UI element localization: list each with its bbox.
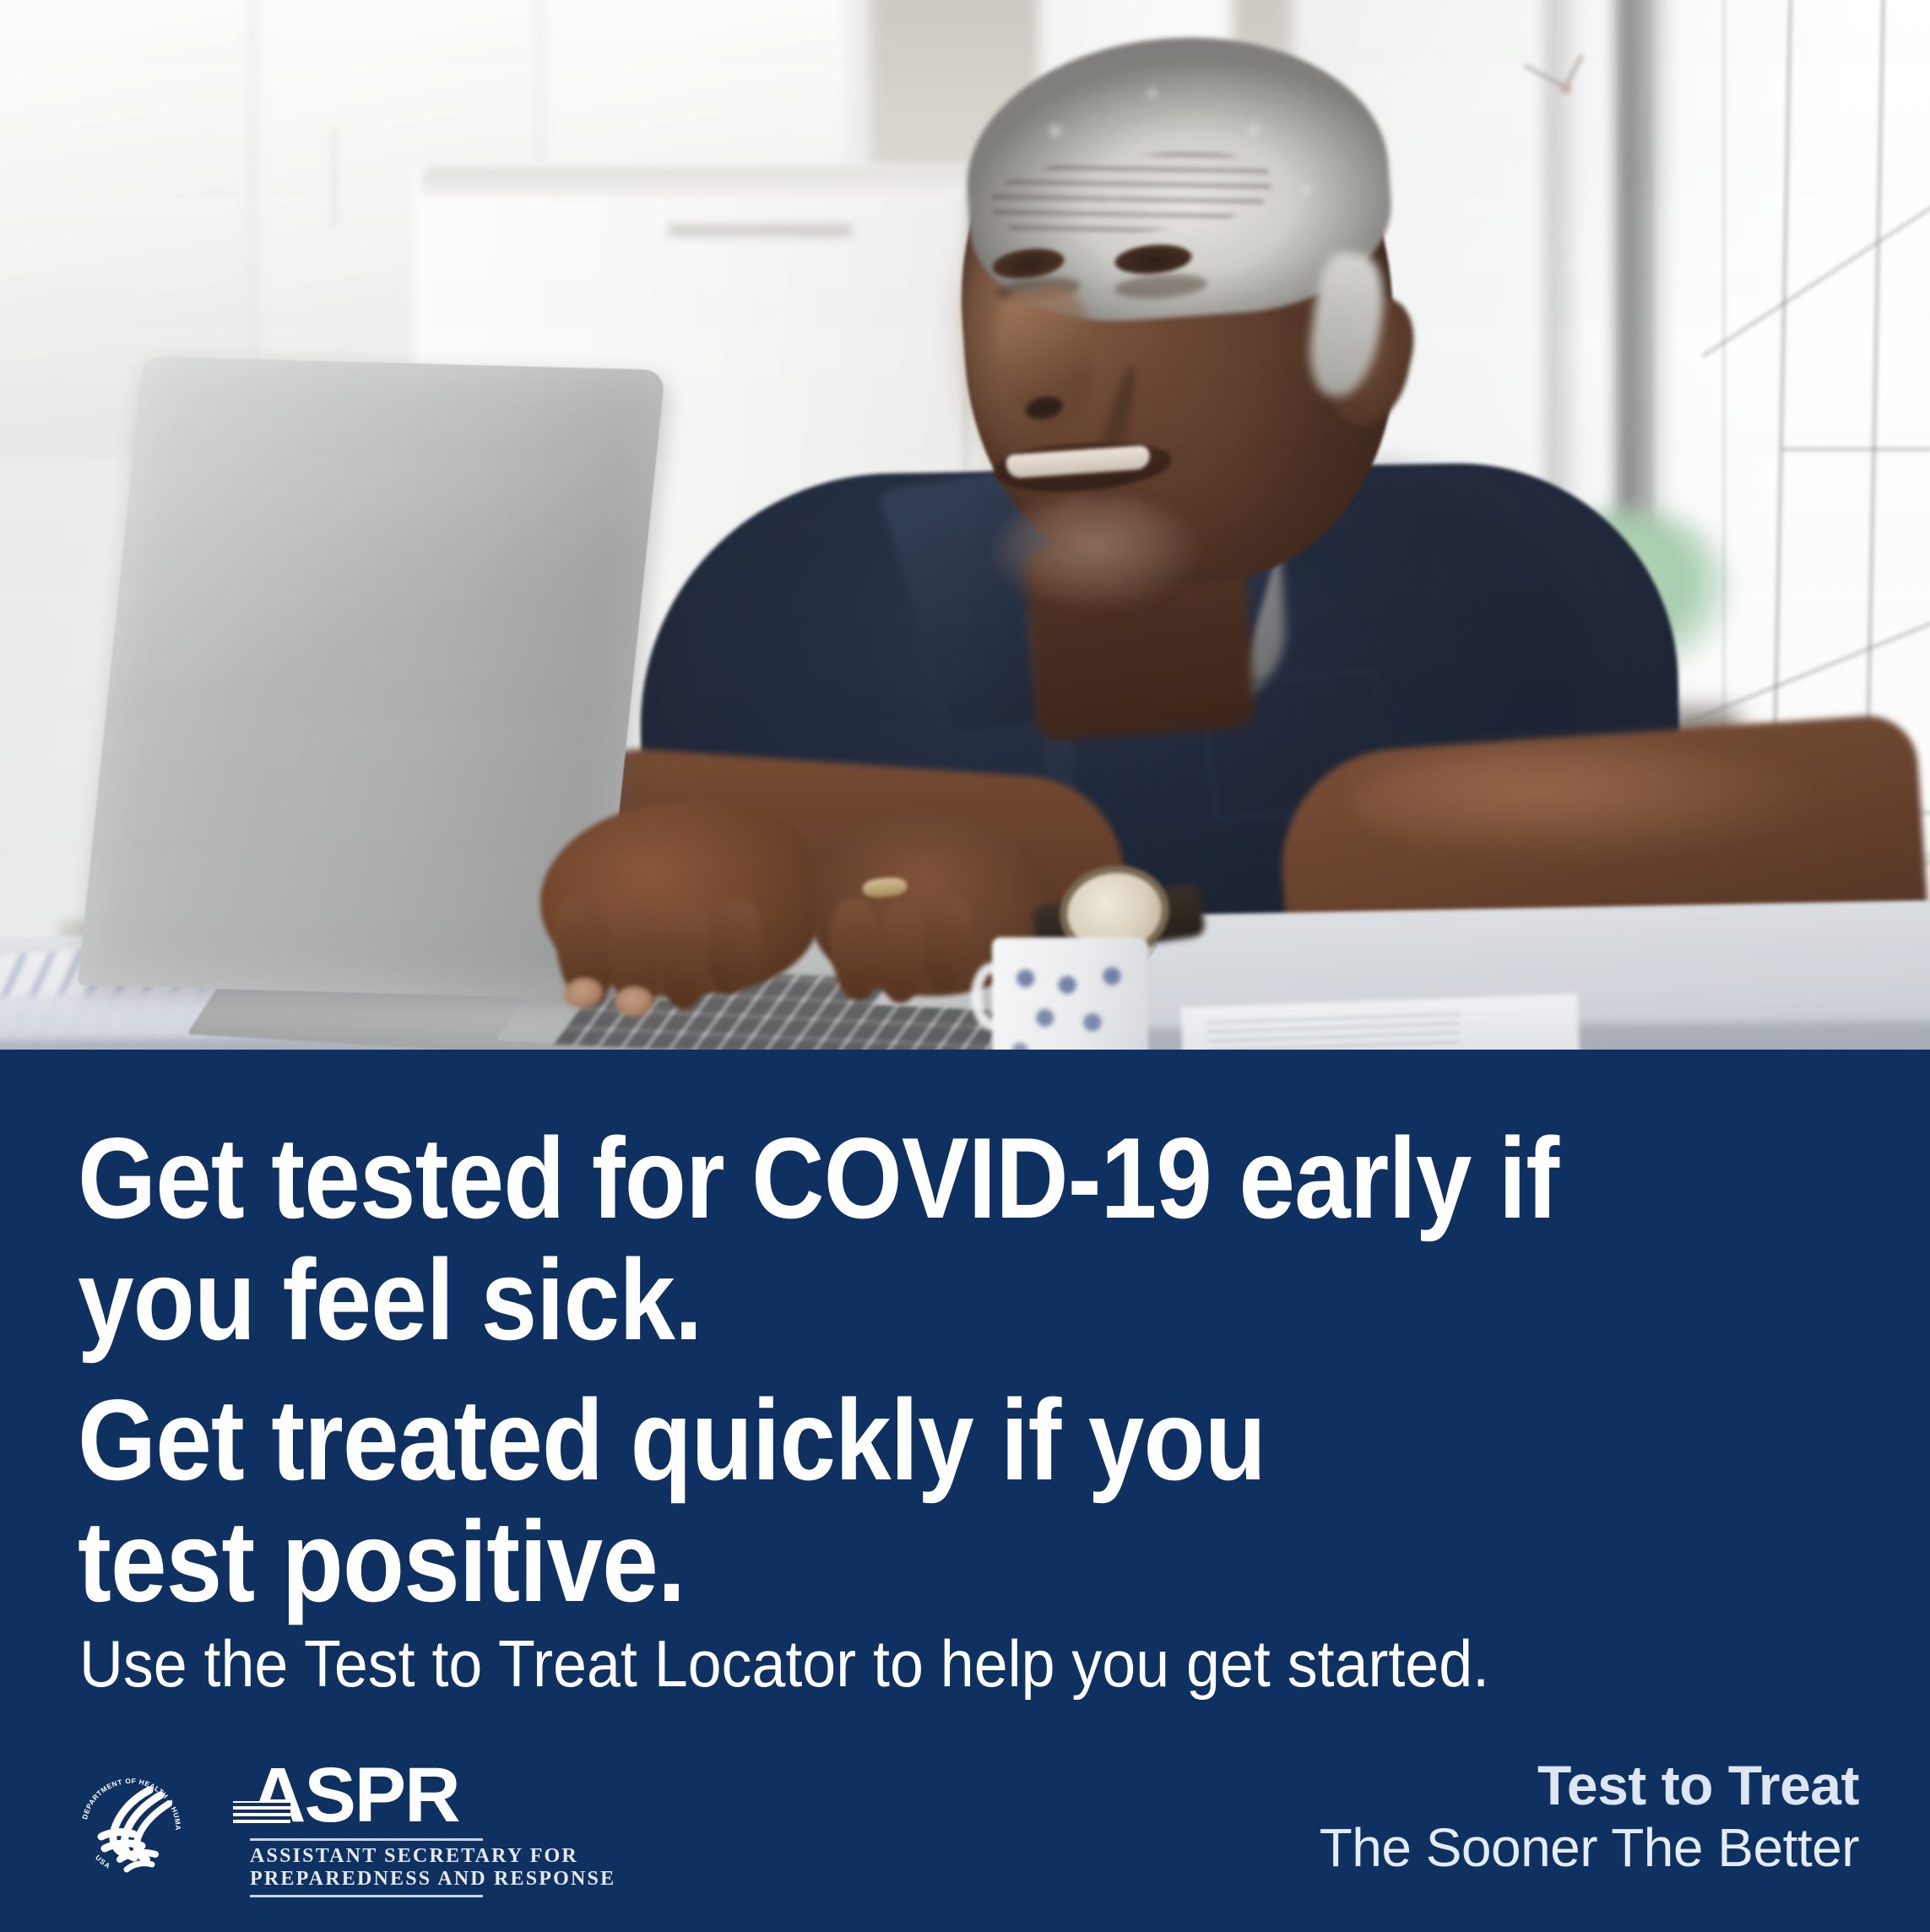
test-to-treat-lockup: Test to Treat The Sooner The Better xyxy=(1320,1757,1859,1879)
aspr-divider-bottom xyxy=(250,1895,483,1897)
footer-logo-group: DEPARTMENT OF HEALTH & HUMAN SERVICES US… xyxy=(68,1759,483,1897)
hhs-seal-icon: DEPARTMENT OF HEALTH & HUMAN SERVICES US… xyxy=(68,1765,194,1891)
aspr-speed-lines-icon xyxy=(233,1801,290,1823)
chin xyxy=(996,498,1190,608)
refrigerator-badge xyxy=(667,224,853,237)
cabinet-handle xyxy=(331,127,339,228)
message-panel: Get tested for COVID-19 early if you fee… xyxy=(0,1050,1930,1932)
headline-primary: Get tested for COVID-19 early if you fee… xyxy=(78,1117,1559,1360)
poster-root: Get tested for COVID-19 early if you fee… xyxy=(0,0,1930,1932)
aspr-tagline-line-2: PREPAREDNESS AND RESPONSE xyxy=(238,1868,483,1891)
subhead-call-to-action: Use the Test to Treat Locator to help yo… xyxy=(79,1628,1489,1701)
mug-polka-dots xyxy=(1000,954,1140,1050)
svg-text:DEPARTMENT OF HEALTH & HUMAN S: DEPARTMENT OF HEALTH & HUMAN SERVICES xyxy=(68,1765,182,1831)
aspr-tagline-line-1: ASSISTANT SECRETARY FOR xyxy=(238,1845,483,1868)
aspr-divider-top xyxy=(250,1838,483,1841)
window-rail xyxy=(1781,448,1930,451)
hero-photo xyxy=(0,0,1930,1050)
aspr-logo: ASPR ASSISTANT SECRETARY FOR PREPAREDNES… xyxy=(238,1759,483,1897)
refrigerator-trim xyxy=(422,167,1030,196)
brand-name: Test to Treat xyxy=(1320,1757,1859,1813)
headline-secondary: Get treated quickly if you test positive… xyxy=(78,1379,1266,1622)
brand-tagline: The Sooner The Better xyxy=(1320,1818,1859,1879)
svg-text:USA: USA xyxy=(94,1853,112,1871)
arm-right-highlight xyxy=(1351,743,1824,861)
